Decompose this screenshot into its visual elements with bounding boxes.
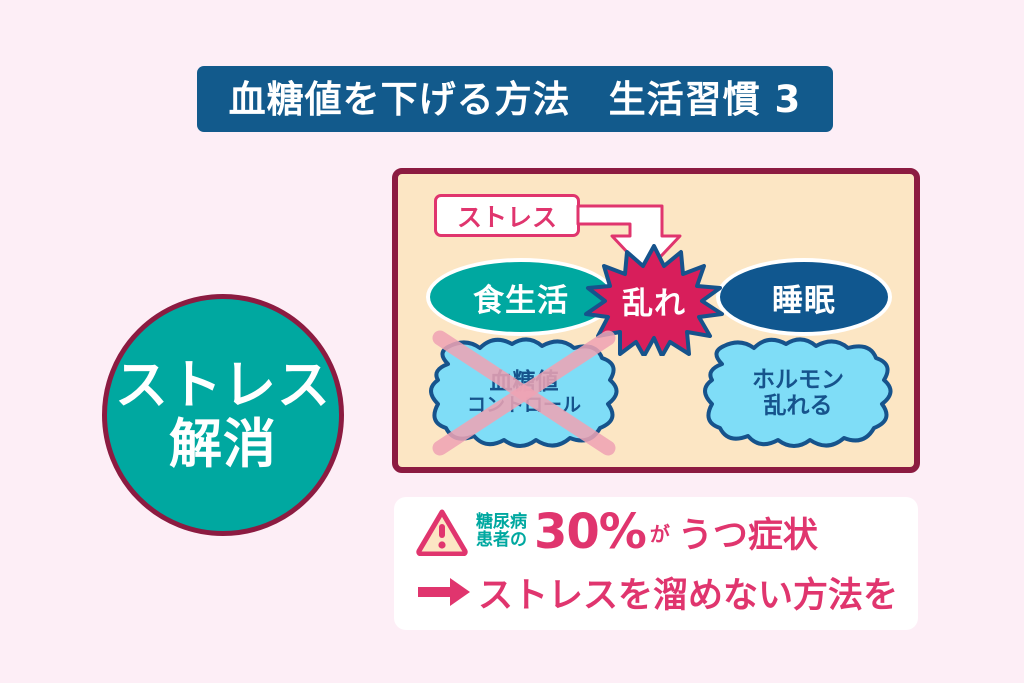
right-arrow-icon	[416, 575, 472, 609]
cloud-shape-icon	[424, 334, 624, 452]
percent-particle: が	[650, 518, 670, 547]
stress-diagram-panel: ストレス 食生活 睡眠 乱れ 血糖値 コントロール	[392, 168, 920, 473]
callout-statistic-row: 糖尿病 患者の 30% が うつ症状	[416, 503, 818, 561]
symptom-text: うつ症状	[678, 507, 818, 558]
circle-label-line2: 解消	[169, 415, 277, 474]
warning-triangle-icon	[416, 508, 468, 556]
diet-ellipse-label: 食生活	[473, 275, 569, 320]
glucose-control-cloud: 血糖値 コントロール	[424, 334, 624, 452]
hormone-cloud: ホルモン 乱れる	[698, 334, 898, 452]
circle-label-line1: ストレス	[115, 356, 331, 415]
percent-value: 30%	[534, 508, 646, 556]
statistics-callout: 糖尿病 患者の 30% が うつ症状 ストレスを溜めない方法を	[394, 497, 918, 630]
sleep-ellipse-label: 睡眠	[772, 275, 836, 320]
page-title-banner: 血糖値を下げる方法 生活習慣 3	[197, 66, 833, 132]
stress-source-tag: ストレス	[434, 194, 580, 237]
patient-note-line2: 患者の	[476, 532, 527, 550]
patient-note: 糖尿病 患者の	[476, 514, 527, 550]
advice-text: ストレスを溜めない方法を	[478, 567, 898, 618]
stress-tag-label: ストレス	[457, 198, 557, 234]
stress-relief-circle: ストレス 解消	[102, 294, 344, 536]
sleep-ellipse: 睡眠	[716, 258, 892, 336]
page-title: 血糖値を下げる方法 生活習慣 3	[229, 81, 802, 118]
callout-advice-row: ストレスを溜めない方法を	[416, 563, 898, 621]
cloud-shape-icon	[698, 334, 898, 452]
